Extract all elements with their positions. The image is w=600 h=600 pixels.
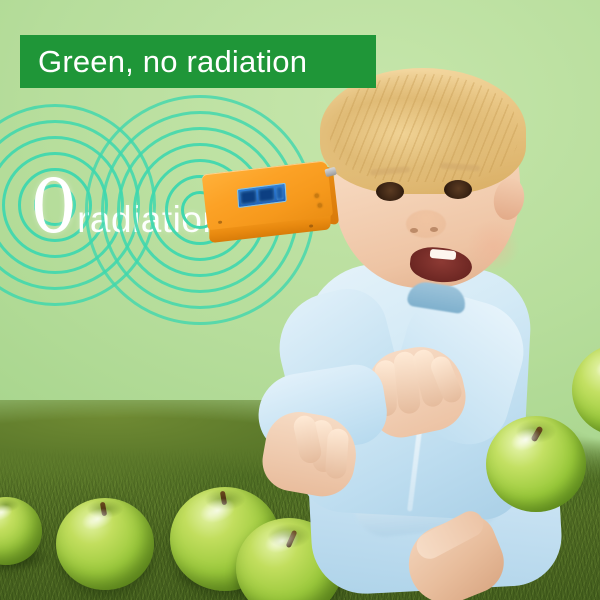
baby-cheek bbox=[466, 220, 520, 272]
lcd-segment bbox=[276, 186, 284, 200]
mobile-signal-booster bbox=[199, 160, 343, 260]
lcd-segment bbox=[258, 187, 275, 202]
lcd-segment bbox=[240, 190, 257, 205]
baby bbox=[258, 70, 600, 600]
baby-right-nostril bbox=[430, 227, 438, 232]
apple-highlight bbox=[592, 352, 600, 383]
baby-right-eye bbox=[444, 180, 472, 199]
ground-apple-1 bbox=[56, 498, 154, 590]
apple-in-left-hand bbox=[486, 416, 586, 512]
zero-radiation-claim: 0 radiation bbox=[30, 172, 224, 242]
baby-hair-strands bbox=[330, 74, 518, 182]
headline-banner: Green, no radiation bbox=[20, 35, 376, 88]
baby-left-nostril bbox=[410, 228, 418, 233]
apple-in-mouth bbox=[572, 344, 600, 436]
zero-glyph: 0 bbox=[30, 172, 75, 242]
promo-banner-image: 0 radiation Green, no radiation bbox=[0, 0, 600, 600]
baby-left-eye bbox=[376, 182, 404, 201]
headline-text: Green, no radiation bbox=[20, 44, 307, 80]
baby-finger bbox=[325, 428, 349, 479]
baby-nose bbox=[406, 210, 446, 238]
